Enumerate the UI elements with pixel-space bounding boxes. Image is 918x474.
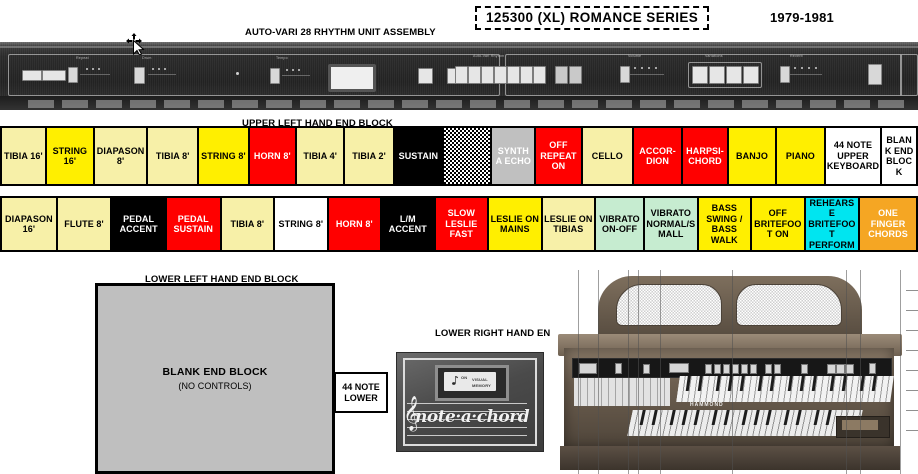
lower-control-cell-16[interactable]: REHEARSE BRITEFOOT PERFORM [806, 198, 861, 250]
year-range-label: 1979-1981 [770, 10, 834, 25]
upper-control-cell-label: CELLO [592, 151, 623, 162]
nac-screen-line1: ON [461, 375, 467, 380]
note-a-chord-screen: ON VISUAL MEMORY [444, 372, 496, 391]
lower-control-cell-label: REHEARSE BRITEFOOT PERFORM [807, 198, 858, 250]
upper-control-cell-15[interactable]: HARPSI-CHORD [683, 128, 729, 184]
upper-control-cell-label: DIAPASON 8' [96, 146, 145, 167]
upper-control-cell-14[interactable]: ACCOR-DION [634, 128, 683, 184]
upper-control-cell-18[interactable]: 44 NOTE UPPER KEYBOARD [826, 128, 883, 184]
upper-control-cell-5[interactable]: STRING 8' [199, 128, 249, 184]
lower-left-hand-end-block-strip: DIAPASON 16'FLUTE 8'PEDAL ACCENTPEDAL SU… [0, 196, 918, 252]
lower-control-cell-10[interactable]: LESLIE ON MAINS [489, 198, 543, 250]
upper-control-cell-19[interactable]: BLANK END BLOCK [882, 128, 916, 184]
upper-control-cell-6[interactable]: HORN 8' [250, 128, 297, 184]
lower-control-cell-label: PEDAL SUSTAIN [168, 214, 219, 235]
nac-screen-line3: MEMORY [472, 383, 491, 388]
lower-control-cell-11[interactable]: LESLIE ON TIBIAS [543, 198, 597, 250]
upper-control-cell-label: TIBIA 4' [303, 151, 337, 162]
upper-control-cell-1[interactable]: TIBIA 16' [2, 128, 47, 184]
upper-control-cell-11[interactable]: SYNTH A ECHO [492, 128, 536, 184]
upper-control-cell-17[interactable]: PIANO [777, 128, 825, 184]
lower-control-cell-label: HORN 8' [336, 219, 373, 230]
upper-control-cell-3[interactable]: DIAPASON 8' [95, 128, 148, 184]
upper-control-cell-10[interactable] [444, 128, 492, 184]
lower-control-cell-13[interactable]: VIBRATO NORMAL/SMALL [645, 198, 699, 250]
upper-control-cell-label: SYNTH A ECHO [493, 146, 533, 167]
blank-end-block-panel: BLANK END BLOCK (NO CONTROLS) [95, 283, 335, 474]
lower-control-cell-7[interactable]: HORN 8' [329, 198, 383, 250]
upper-left-hand-end-block-strip: TIBIA 16'STRING 16'DIAPASON 8'TIBIA 8'ST… [0, 126, 918, 186]
lower-control-cell-6[interactable]: STRING 8' [275, 198, 329, 250]
upper-control-cell-16[interactable]: BANJO [729, 128, 777, 184]
lower-control-cell-label: PEDAL ACCENT [113, 214, 164, 235]
part-number-box: 125300 (XL) ROMANCE SERIES [475, 6, 709, 30]
note-a-chord-display-window: ON VISUAL MEMORY [435, 365, 509, 401]
lower-control-cell-15[interactable]: OFF BRITEFOOT ON [752, 198, 806, 250]
lower-control-cell-1[interactable]: DIAPASON 16' [2, 198, 58, 250]
upper-control-cell-label: PIANO [786, 151, 815, 162]
lower-control-cell-12[interactable]: VIBRATO ON-OFF [596, 198, 645, 250]
lower-control-cell-3[interactable]: PEDAL ACCENT [112, 198, 167, 250]
upper-control-cell-2[interactable]: STRING 16' [47, 128, 95, 184]
lower-control-cell-5[interactable]: TIBIA 8' [222, 198, 276, 250]
upper-control-cell-8[interactable]: TIBIA 2' [345, 128, 394, 184]
lower-control-cell-label: ONE FINGER CHORDS [861, 208, 915, 240]
upper-control-cell-4[interactable]: TIBIA 8' [148, 128, 199, 184]
note-a-chord-logo: note·a·chord [415, 407, 521, 431]
lower-control-cell-label: VIBRATO ON-OFF [597, 214, 642, 235]
upper-control-cell-label: TIBIA 16' [4, 151, 43, 162]
lower-control-cell-label: OFF BRITEFOOT ON [753, 208, 803, 240]
note-a-chord-photo: ON VISUAL MEMORY 𝄞 note·a·chord [396, 352, 544, 452]
upper-control-cell-label: 44 NOTE UPPER KEYBOARD [827, 140, 880, 172]
upper-control-cell-label: STRING 8' [201, 151, 246, 162]
upper-control-cell-label: HORN 8' [254, 151, 291, 162]
organ-brand-label: HAMMOND [690, 402, 724, 408]
lower-control-cell-14[interactable]: BASS SWING / BASS WALK [699, 198, 753, 250]
lower-control-cell-label: FLUTE 8' [64, 219, 103, 230]
blank-end-block-title: BLANK END BLOCK [162, 366, 267, 378]
upper-control-cell-label: OFF REPEAT ON [537, 140, 580, 172]
upper-control-cell-label: BLANK END BLOCK [883, 135, 915, 177]
lower-control-cell-2[interactable]: FLUTE 8' [58, 198, 113, 250]
upper-control-cell-12[interactable]: OFF REPEAT ON [536, 128, 583, 184]
music-note-icon [452, 375, 458, 386]
lower-control-cell-label: LESLIE ON TIBIAS [544, 214, 594, 235]
lower-control-cell-label: VIBRATO NORMAL/SMALL [646, 208, 696, 240]
lower-control-cell-9[interactable]: SLOW LESLIE FAST [436, 198, 490, 250]
lower-control-cell-label: LESLIE ON MAINS [490, 214, 540, 235]
lower-control-cell-label: TIBIA 8' [230, 219, 264, 230]
move-cursor-icon [126, 33, 148, 55]
blank-end-block-subtitle: (NO CONTROLS) [178, 381, 251, 391]
lower-control-cell-label: BASS SWING / BASS WALK [700, 203, 750, 245]
upper-control-cell-7[interactable]: TIBIA 4' [297, 128, 345, 184]
upper-control-cell-label: BANJO [736, 151, 768, 162]
lower-control-cell-label: DIAPASON 16' [3, 214, 55, 235]
rhythm-unit-title: AUTO-VARI 28 RHYTHM UNIT ASSEMBLY [245, 27, 436, 38]
upper-control-cell-label: TIBIA 8' [156, 151, 190, 162]
organ-photo: HAMMOND [550, 270, 918, 474]
lower-control-cell-4[interactable]: PEDAL SUSTAIN [167, 198, 222, 250]
note-44-lower-box: 44 NOTE LOWER [334, 372, 388, 413]
nac-screen-line2: VISUAL [472, 377, 488, 382]
upper-control-cell-13[interactable]: CELLO [583, 128, 634, 184]
lower-right-hand-caption: LOWER RIGHT HAND END BLOCK [435, 328, 550, 340]
upper-control-cell-label: SUSTAIN [399, 151, 439, 162]
lower-control-cell-label: STRING 8' [279, 219, 324, 230]
upper-control-cell-label: STRING 16' [48, 146, 92, 167]
upper-control-cell-label: TIBIA 2' [352, 151, 386, 162]
lower-control-cell-label: SLOW LESLIE FAST [437, 208, 487, 240]
lower-control-cell-label: L/M ACCENT [383, 214, 433, 235]
upper-control-cell-9[interactable]: SUSTAIN [395, 128, 444, 184]
upper-control-cell-label: ACCOR-DION [635, 146, 680, 167]
diagram-page: 125300 (XL) ROMANCE SERIES 1979-1981 AUT… [0, 0, 918, 474]
upper-control-cell-label: HARPSI-CHORD [684, 146, 726, 167]
lower-control-cell-17[interactable]: ONE FINGER CHORDS [860, 198, 916, 250]
lower-control-cell-8[interactable]: L/M ACCENT [382, 198, 436, 250]
